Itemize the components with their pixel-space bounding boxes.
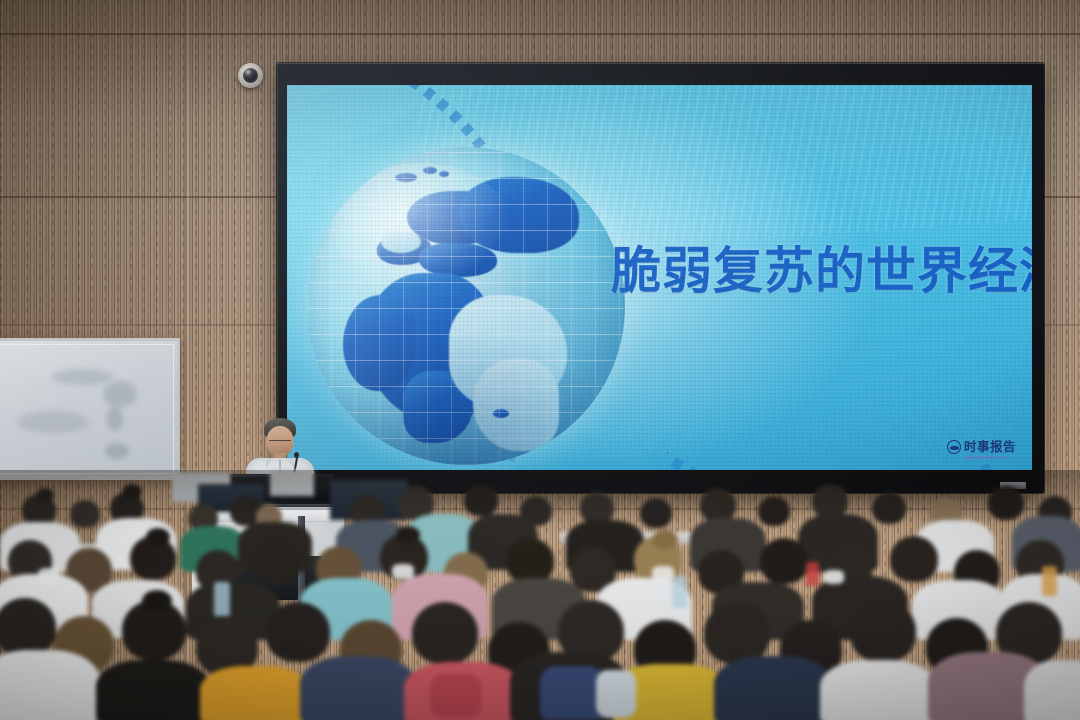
slide-title: 脆弱复苏的世界经济: [611, 231, 1032, 303]
backpack: [430, 674, 482, 718]
audience-body: [1024, 660, 1080, 720]
audience-body: [200, 666, 310, 720]
audience-hair-bun: [652, 530, 678, 550]
whiteboard-smudge: [51, 369, 113, 385]
audience-head: [812, 484, 848, 518]
whiteboard-smudge: [105, 443, 129, 459]
audience-body: [714, 656, 832, 720]
backpack-strap: [596, 670, 636, 718]
logo-text: 时事报告: [964, 441, 1016, 454]
shirt-collar-right: [287, 458, 294, 468]
audience-head: [890, 536, 938, 582]
audience-head: [412, 602, 478, 664]
face-mask: [824, 570, 844, 584]
whiteboard-surface: [0, 344, 174, 474]
eye-circle-logo-icon: [947, 440, 961, 454]
whiteboard-smudge: [103, 381, 137, 407]
audience-head: [872, 492, 906, 524]
water-bottle: [214, 582, 230, 616]
audience-body: [96, 660, 210, 720]
audience-head: [266, 602, 330, 662]
audience-head: [254, 540, 300, 584]
audience-hair-bun: [122, 484, 142, 499]
camera-lens-glint: [246, 70, 250, 73]
microphone-capsule: [294, 452, 299, 458]
globe-sphere: [307, 147, 625, 465]
presentation-slide: 脆弱复苏的世界经济 时事报告 www.ssbaogao.com: [287, 85, 1032, 470]
face-mask: [392, 564, 414, 579]
backpack: [540, 666, 604, 720]
wall-grey-block: [270, 470, 314, 496]
audience-head: [640, 498, 672, 528]
shirt-collar-left: [266, 458, 273, 468]
audience-head: [758, 496, 790, 526]
audience-hair-bun: [36, 488, 54, 502]
audience-body: [820, 660, 936, 720]
face-mask: [38, 568, 60, 584]
whiteboard-smudge: [107, 407, 123, 431]
audience-head: [988, 486, 1024, 520]
presenter-head: [267, 426, 294, 456]
audience-head: [464, 484, 498, 516]
audience-head: [704, 602, 770, 664]
segmented-arc-ring: [667, 385, 997, 470]
audience-hair-bun: [142, 590, 172, 612]
audience-body: [0, 650, 100, 720]
world-globe-graphic: [307, 147, 625, 465]
audience-head: [700, 488, 736, 522]
slide-logo: 时事报告 www.ssbaogao.com: [947, 440, 1016, 454]
seated-audience: [0, 470, 1080, 720]
presenter-eyeglasses: [269, 440, 291, 441]
audience-body: [300, 656, 416, 720]
whiteboard: [0, 338, 180, 480]
audience-head: [850, 600, 916, 662]
audience-head: [0, 598, 56, 656]
logo-subtext: www.ssbaogao.com: [964, 455, 1009, 460]
decorative-arc-clip: [667, 385, 997, 470]
face-mask: [652, 566, 674, 581]
water-bottle: [672, 576, 687, 608]
water-bottle: [1042, 566, 1057, 596]
water-bottle: [806, 562, 819, 586]
globe-graticule-grid: [307, 147, 625, 465]
led-video-wall: 脆弱复苏的世界经济 时事报告 www.ssbaogao.com: [277, 63, 1044, 493]
audience-hair-bun: [396, 526, 420, 544]
dome-security-camera-icon: [238, 63, 263, 88]
whiteboard-smudge: [17, 411, 89, 433]
audience-hair-bun: [146, 528, 170, 546]
audience-blur-layer: [0, 470, 1080, 720]
audience-head: [760, 538, 808, 584]
lecture-hall-photo: 脆弱复苏的世界经济 时事报告 www.ssbaogao.com: [0, 0, 1080, 720]
audience-head: [70, 500, 100, 528]
